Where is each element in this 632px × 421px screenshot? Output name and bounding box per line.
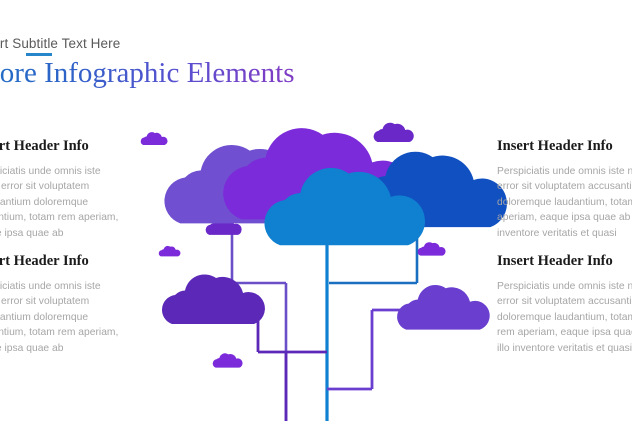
primary-clouds [162,128,507,329]
cloud-large-light-purple [164,145,327,223]
title-block: Insert Subtitle Text Here More Infograph… [0,36,354,90]
cloud-large-deep-blue [351,152,507,227]
info-body: Perspiciatis unde omnis iste natus error… [497,164,632,241]
connector-lines [232,214,418,421]
infographic-slide: Insert Subtitle Text Here More Infograph… [0,0,632,421]
cloud-small-top-right-icon [374,123,414,142]
info-block-right-top: Insert Header Info Perspiciatis unde omn… [497,138,632,241]
decorative-small-clouds [141,123,446,368]
cloud-small-mid-right-icon [418,242,446,255]
info-body: Perspiciatis unde omnis iste natus error… [0,279,131,356]
page-title: More Infographic Elements [0,56,354,90]
info-body: Perspiciatis unde omnis iste natus error… [497,279,632,356]
info-block-left-bottom: Insert Header Info Perspiciatis unde omn… [0,253,131,356]
info-block-right-bottom: Insert Header Info Perspiciatis unde omn… [497,253,632,356]
cloud-small-mid-left-icon [159,246,181,256]
cloud-small-top-left-icon [141,132,168,145]
cloud-mid-dark-purple [162,274,265,324]
title-underline-rule [26,53,52,56]
cloud-small-bottom-icon [213,353,243,367]
info-heading: Insert Header Info [497,138,632,155]
cloud-small-center-icon [206,218,242,235]
info-heading: Insert Header Info [497,253,632,270]
info-heading: Insert Header Info [0,138,131,155]
cloud-large-bright-purple [223,128,412,219]
info-body: Perspiciatis unde omnis iste natus error… [0,164,131,241]
subtitle-text: Insert Subtitle Text Here [0,36,354,51]
info-block-left-top: Insert Header Info Perspiciatis unde omn… [0,138,131,241]
cloud-mid-medium-purple [397,285,490,330]
info-heading: Insert Header Info [0,253,131,270]
cloud-large-blue [264,168,425,245]
